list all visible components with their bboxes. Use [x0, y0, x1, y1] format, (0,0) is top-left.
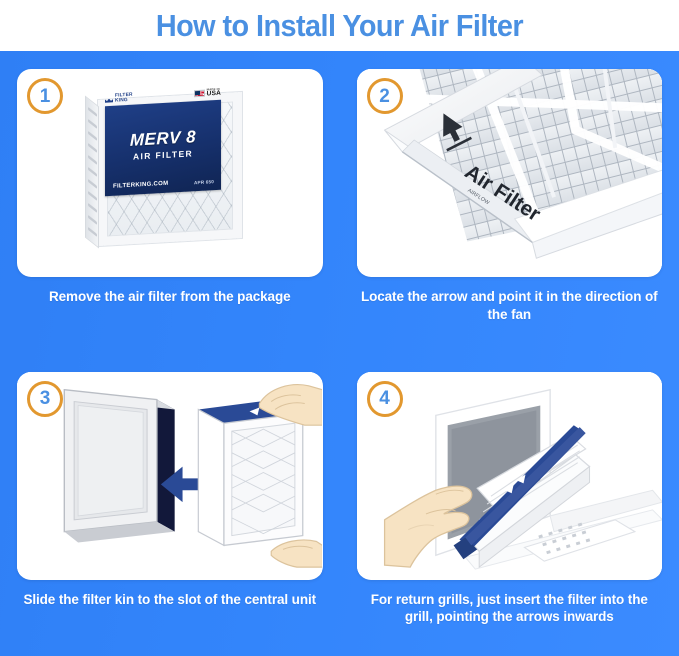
step-3: 3 [0, 354, 340, 656]
crown-icon [105, 95, 113, 102]
step-2: 2 [340, 51, 679, 354]
page-title: How to Install Your Air Filter [156, 8, 523, 44]
step-2-card: 2 [357, 69, 663, 277]
infographic-poster: How to Install Your Air Filter 1 [0, 0, 679, 656]
step-4-card: 4 [357, 372, 663, 580]
step-3-caption: Slide the filter kin to the slot of the … [17, 591, 323, 609]
air-filter-panel [198, 399, 302, 545]
slide-filter-diagram [17, 372, 322, 577]
step-3-badge: 3 [27, 381, 63, 417]
step-1-caption: Remove the air filter from the package [17, 288, 323, 306]
step-1-badge: 1 [27, 78, 63, 114]
product-website: FILTERKING.COM [113, 181, 168, 190]
step-1-card: 1 [17, 69, 323, 277]
product-label-panel: MERV 8 AIR FILTER FILTERKING.COM APR 650 [105, 100, 221, 196]
title-bar: How to Install Your Air Filter [0, 0, 679, 51]
step-4: 4 [340, 354, 679, 656]
step-1: 1 [0, 51, 340, 354]
usa-flag-icon [194, 90, 205, 98]
product-apr: APR 650 [194, 179, 214, 185]
central-unit [64, 389, 174, 542]
filter-side-edge [85, 96, 99, 249]
country-label: USA [207, 91, 221, 98]
filter-king-logo: FILTER KING [105, 93, 133, 105]
made-in-usa-mark: MADE IN USA [194, 88, 221, 99]
steps-grid: 1 [0, 51, 679, 656]
step-3-illustration [17, 372, 323, 580]
step-1-illustration: FILTER KING MADE IN USA [17, 69, 323, 277]
step-2-badge: 2 [367, 78, 403, 114]
step-4-caption: For return grills, just insert the filte… [357, 591, 663, 627]
merv-rating: MERV 8 [105, 127, 221, 150]
step-3-card: 3 [17, 372, 323, 580]
step-4-badge: 4 [367, 381, 403, 417]
product-subtitle: AIR FILTER [105, 148, 221, 163]
brand-name: FILTER KING [115, 93, 133, 104]
step-2-caption: Locate the arrow and point it in the dir… [357, 288, 663, 324]
